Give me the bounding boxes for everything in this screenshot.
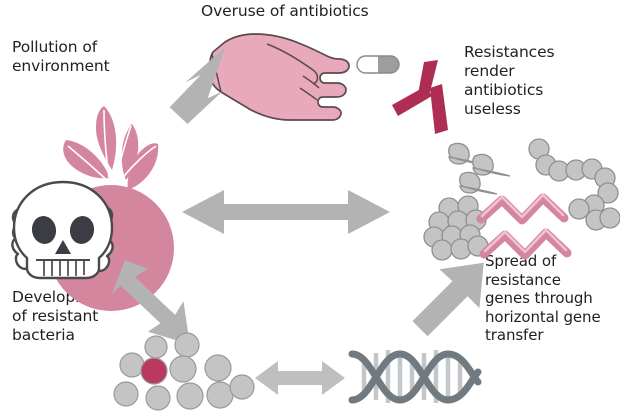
label-pollution-of-environment: Pollution of environment: [12, 38, 110, 76]
label-overuse-of-antibiotics: Overuse of antibiotics: [201, 2, 369, 21]
broken-antibody-icon: [388, 58, 478, 138]
flagellated-bacteria-icon: [449, 143, 510, 194]
label-spread-of-resistance-genes: Spread of resistance genes through horiz…: [485, 252, 601, 345]
resistant-bacteria-colony-icon: [108, 336, 268, 412]
arrow-up-right-icon: [404, 250, 500, 350]
microbe-field-group: [424, 136, 620, 261]
arrow-down-right-icon: [104, 252, 204, 344]
staphylococci-cluster-icon: [424, 196, 488, 260]
diagram-canvas: Overuse of antibiotics Pollution of envi…: [0, 0, 620, 412]
dna-double-helix-icon: [338, 342, 486, 412]
streptococci-chain-icon: [529, 139, 620, 230]
double-headed-arrow-horizontal-icon: [176, 184, 406, 244]
double-headed-arrow-small-icon: [252, 356, 352, 402]
